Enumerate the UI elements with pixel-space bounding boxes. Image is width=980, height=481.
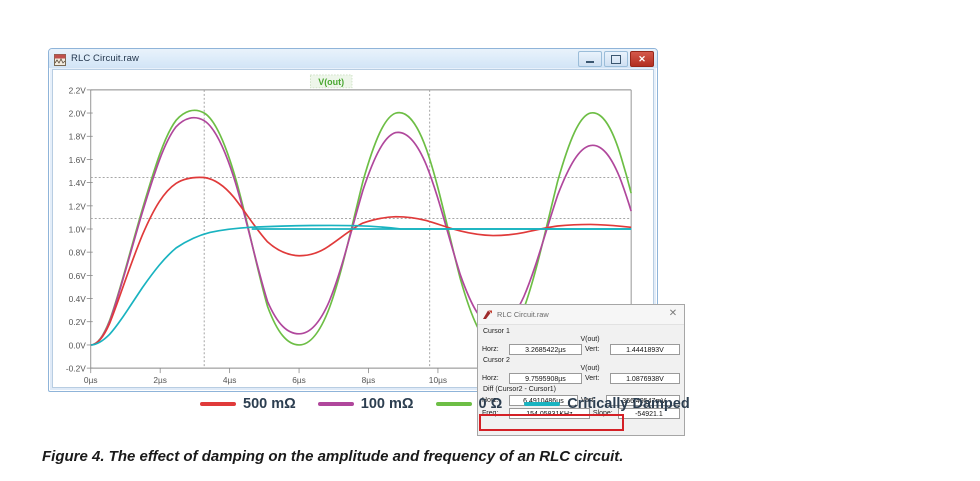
legend-item-500-mohm: 500 mΩ xyxy=(200,396,296,412)
minimize-button[interactable] xyxy=(578,51,602,67)
ltspice-waveform-window: RLC Circuit.raw ✕ 2.2V 2.0V 1.8V 1.6V 1.… xyxy=(48,48,658,392)
legend-swatch-critically-damped xyxy=(524,402,560,406)
cursor2-row: Horz: 9.7595908µs Vert: 1.0876938V xyxy=(482,373,680,384)
svg-text:1.0V: 1.0V xyxy=(69,224,87,234)
legend-item-100-mohm: 100 mΩ xyxy=(318,396,414,412)
window-title: RLC Circuit.raw xyxy=(71,53,139,64)
svg-text:1.4V: 1.4V xyxy=(69,178,87,188)
svg-text:10µs: 10µs xyxy=(429,375,447,385)
waveform-file-icon xyxy=(54,53,66,65)
cursor1-section-label: Cursor 1 xyxy=(483,328,680,335)
cursor-readout-dialog[interactable]: RLC Circuit.raw ✕ Cursor 1 V(out) Horz: … xyxy=(477,304,685,436)
cursor1-signal-label: V(out) xyxy=(482,336,680,343)
legend-label-100-mohm: 100 mΩ xyxy=(361,396,414,412)
cursor1-horz-value[interactable]: 3.2685422µs xyxy=(509,344,582,355)
close-icon[interactable]: ✕ xyxy=(668,309,678,319)
svg-text:0.8V: 0.8V xyxy=(69,248,87,258)
svg-text:0.2V: 0.2V xyxy=(69,317,87,327)
svg-text:1.2V: 1.2V xyxy=(69,201,87,211)
legend-item-critically-damped: Critically Damped xyxy=(524,396,690,412)
cursor-dialog-title: RLC Circuit.raw xyxy=(497,310,549,319)
svg-text:-0.2V: -0.2V xyxy=(66,364,86,374)
svg-text:6µs: 6µs xyxy=(292,375,306,385)
svg-text:V(out): V(out) xyxy=(318,77,344,87)
window-titlebar[interactable]: RLC Circuit.raw ✕ xyxy=(49,49,657,68)
cursor2-section-label: Cursor 2 xyxy=(483,357,680,364)
svg-text:0µs: 0µs xyxy=(84,375,98,385)
ltspice-icon xyxy=(482,310,493,320)
signal-title: V(out) xyxy=(310,75,352,88)
svg-text:1.8V: 1.8V xyxy=(69,132,87,142)
svg-text:1.6V: 1.6V xyxy=(69,155,87,165)
legend-label-500-mohm: 500 mΩ xyxy=(243,396,296,412)
svg-text:8µs: 8µs xyxy=(362,375,376,385)
cursor2-horz-value[interactable]: 9.7595908µs xyxy=(509,373,582,384)
cursor1-vert-label: Vert: xyxy=(585,346,607,353)
svg-text:4µs: 4µs xyxy=(223,375,237,385)
legend-swatch-100-mohm xyxy=(318,402,354,406)
figure-caption: Figure 4. The effect of damping on the a… xyxy=(42,448,942,465)
legend-item-0-ohm: 0 Ω xyxy=(436,396,503,412)
chart-legend: 500 mΩ 100 mΩ 0 Ω Critically Damped xyxy=(200,392,660,416)
maximize-button[interactable] xyxy=(604,51,628,67)
cursor2-vert-label: Vert: xyxy=(585,375,607,382)
close-button[interactable]: ✕ xyxy=(630,51,654,67)
svg-text:2.0V: 2.0V xyxy=(69,109,87,119)
window-controls: ✕ xyxy=(578,51,654,67)
legend-label-critically-damped: Critically Damped xyxy=(567,396,690,412)
cursor2-horz-label: Horz: xyxy=(482,375,506,382)
cursor2-vert-value[interactable]: 1.0876938V xyxy=(610,373,680,384)
cursor-dialog-titlebar[interactable]: RLC Circuit.raw ✕ xyxy=(478,305,684,325)
legend-swatch-500-mohm xyxy=(200,402,236,406)
svg-text:2.2V: 2.2V xyxy=(69,85,87,95)
cursor1-vert-value[interactable]: 1.4441893V xyxy=(610,344,680,355)
svg-text:0.4V: 0.4V xyxy=(69,294,87,304)
legend-swatch-0-ohm xyxy=(436,402,472,406)
svg-text:0.0V: 0.0V xyxy=(69,340,87,350)
close-icon: ✕ xyxy=(638,55,646,64)
cursor1-horz-label: Horz: xyxy=(482,346,506,353)
svg-text:0.6V: 0.6V xyxy=(69,271,87,281)
svg-text:2µs: 2µs xyxy=(153,375,167,385)
cursor2-signal-label: V(out) xyxy=(482,365,680,372)
cursor1-row: Horz: 3.2685422µs Vert: 1.4441893V xyxy=(482,344,680,355)
legend-label-0-ohm: 0 Ω xyxy=(479,396,503,412)
